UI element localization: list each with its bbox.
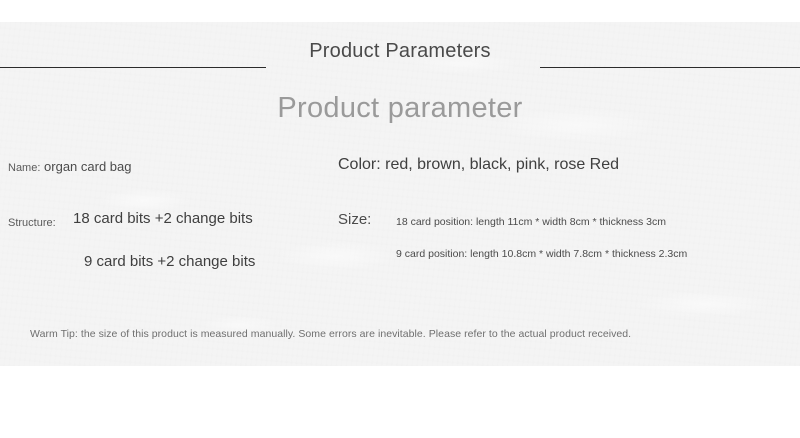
section-header: Product Parameters xyxy=(0,40,800,84)
spec-structure-label: Structure: xyxy=(8,217,56,229)
page-title: Product Parameters xyxy=(0,40,800,63)
spec-color: Color: red, brown, black, pink, rose Red xyxy=(338,156,619,174)
spec-color-value: red, brown, black, pink, rose Red xyxy=(385,156,619,173)
spec-color-label: Color: xyxy=(338,156,381,173)
spec-name: Name: organ card bag xyxy=(8,159,131,174)
parameters-panel: Product Parameters Product parameter Nam… xyxy=(0,22,800,366)
spec-name-value: organ card bag xyxy=(44,159,131,174)
spec-structure-line-2: 9 card bits +2 change bits xyxy=(84,253,255,270)
spec-size-line-1: 18 card position: length 11cm * width 8c… xyxy=(396,216,666,228)
spec-size-label: Size: xyxy=(338,211,371,228)
warm-tip-note: Warm Tip: the size of this product is me… xyxy=(30,328,772,340)
product-parameters-page: Product Parameters Product parameter Nam… xyxy=(0,0,800,438)
spec-structure-line-1: 18 card bits +2 change bits xyxy=(73,210,253,227)
header-rule-left xyxy=(0,67,266,68)
spec-name-label: Name: xyxy=(8,162,40,174)
spec-size-line-2: 9 card position: length 10.8cm * width 7… xyxy=(396,248,687,260)
page-subtitle: Product parameter xyxy=(0,92,800,125)
header-rule-right xyxy=(540,67,800,68)
